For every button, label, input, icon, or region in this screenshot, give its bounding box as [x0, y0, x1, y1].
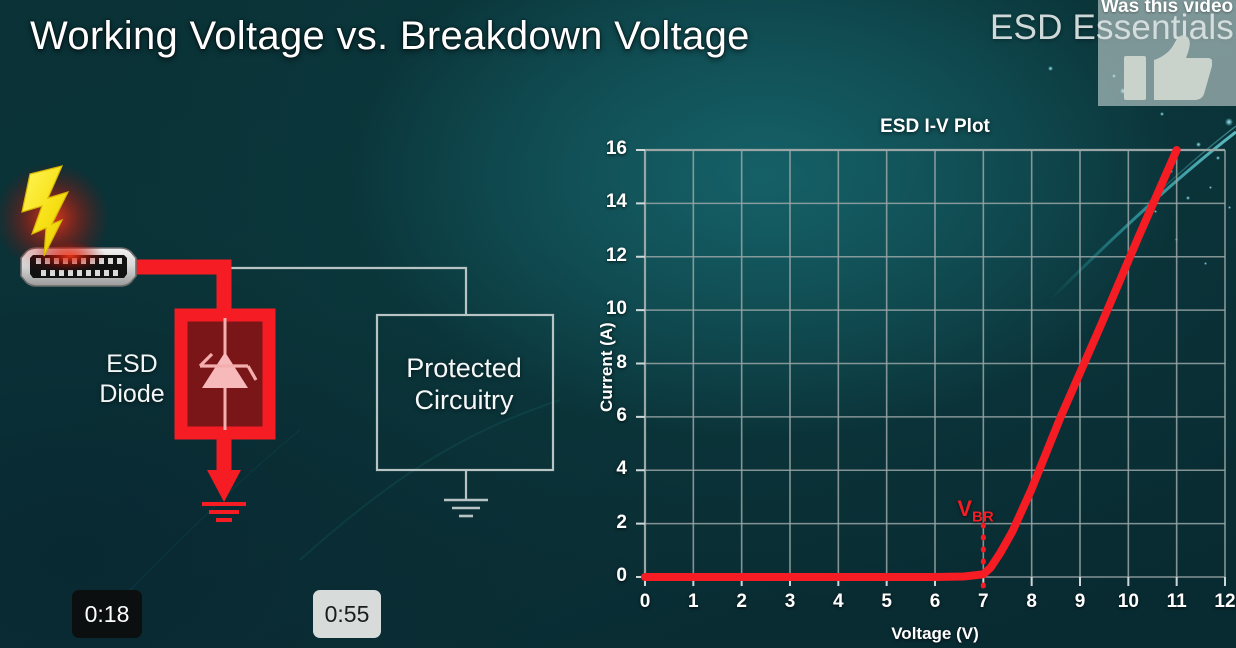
x-tick-label: 10: [1113, 591, 1143, 613]
chart-gridlines: [645, 150, 1225, 577]
esd-diode-label-line2: Diode: [86, 380, 178, 410]
x-axis-title: Voltage (V): [735, 624, 1135, 644]
vbr-subscript: BR: [972, 508, 994, 525]
vbr-main: V: [957, 496, 972, 521]
current-arrow-icon: [207, 470, 241, 502]
esd-iv-plot: [575, 108, 1236, 648]
y-tick-label: 0: [593, 565, 627, 587]
x-tick-label: 5: [872, 591, 902, 613]
esd-diode-label-line1: ESD: [86, 350, 178, 380]
video-frame: Working Voltage vs. Breakdown Voltage ES…: [0, 0, 1236, 648]
x-tick-label: 7: [968, 591, 998, 613]
x-tick-label: 1: [678, 591, 708, 613]
protected-circuitry-label-line1: Protected: [378, 352, 550, 384]
y-tick-label: 16: [593, 138, 627, 160]
bokeh-particle: [1048, 66, 1053, 71]
page-title: Working Voltage vs. Breakdown Voltage: [30, 14, 750, 59]
y-tick-label: 14: [593, 191, 627, 213]
y-tick-label: 8: [593, 352, 627, 374]
total-time-badge[interactable]: 0:55: [313, 590, 381, 638]
protected-circuitry-label: Protected Circuitry: [378, 352, 550, 417]
x-tick-label: 4: [823, 591, 853, 613]
protected-circuitry-label-line2: Circuitry: [378, 384, 550, 416]
ground-icon: [444, 500, 488, 516]
video-survey-overlay[interactable]: Was this video: [1098, 0, 1236, 106]
y-tick-label: 2: [593, 512, 627, 534]
ground-icon: [202, 504, 246, 520]
y-tick-label: 4: [593, 458, 627, 480]
x-tick-label: 0: [630, 591, 660, 613]
esd-diode-label: ESD Diode: [86, 350, 178, 409]
y-tick-label: 6: [593, 405, 627, 427]
y-tick-label: 12: [593, 245, 627, 267]
signal-wire: [228, 268, 466, 315]
thumbs-up-icon[interactable]: [1124, 34, 1212, 102]
survey-question-text: Was this video: [1098, 0, 1236, 18]
x-tick-label: 9: [1065, 591, 1095, 613]
x-tick-label: 11: [1162, 591, 1192, 613]
x-tick-label: 3: [775, 591, 805, 613]
x-tick-label: 2: [727, 591, 757, 613]
esd-diode-component: [181, 315, 269, 433]
x-tick-label: 12: [1210, 591, 1236, 613]
breakdown-voltage-label: VBR: [957, 496, 993, 525]
x-tick-label: 8: [1017, 591, 1047, 613]
y-tick-label: 10: [593, 298, 627, 320]
x-tick-label: 6: [920, 591, 950, 613]
chart-tickmarks: [636, 150, 1225, 586]
current-time-badge[interactable]: 0:18: [72, 590, 142, 638]
